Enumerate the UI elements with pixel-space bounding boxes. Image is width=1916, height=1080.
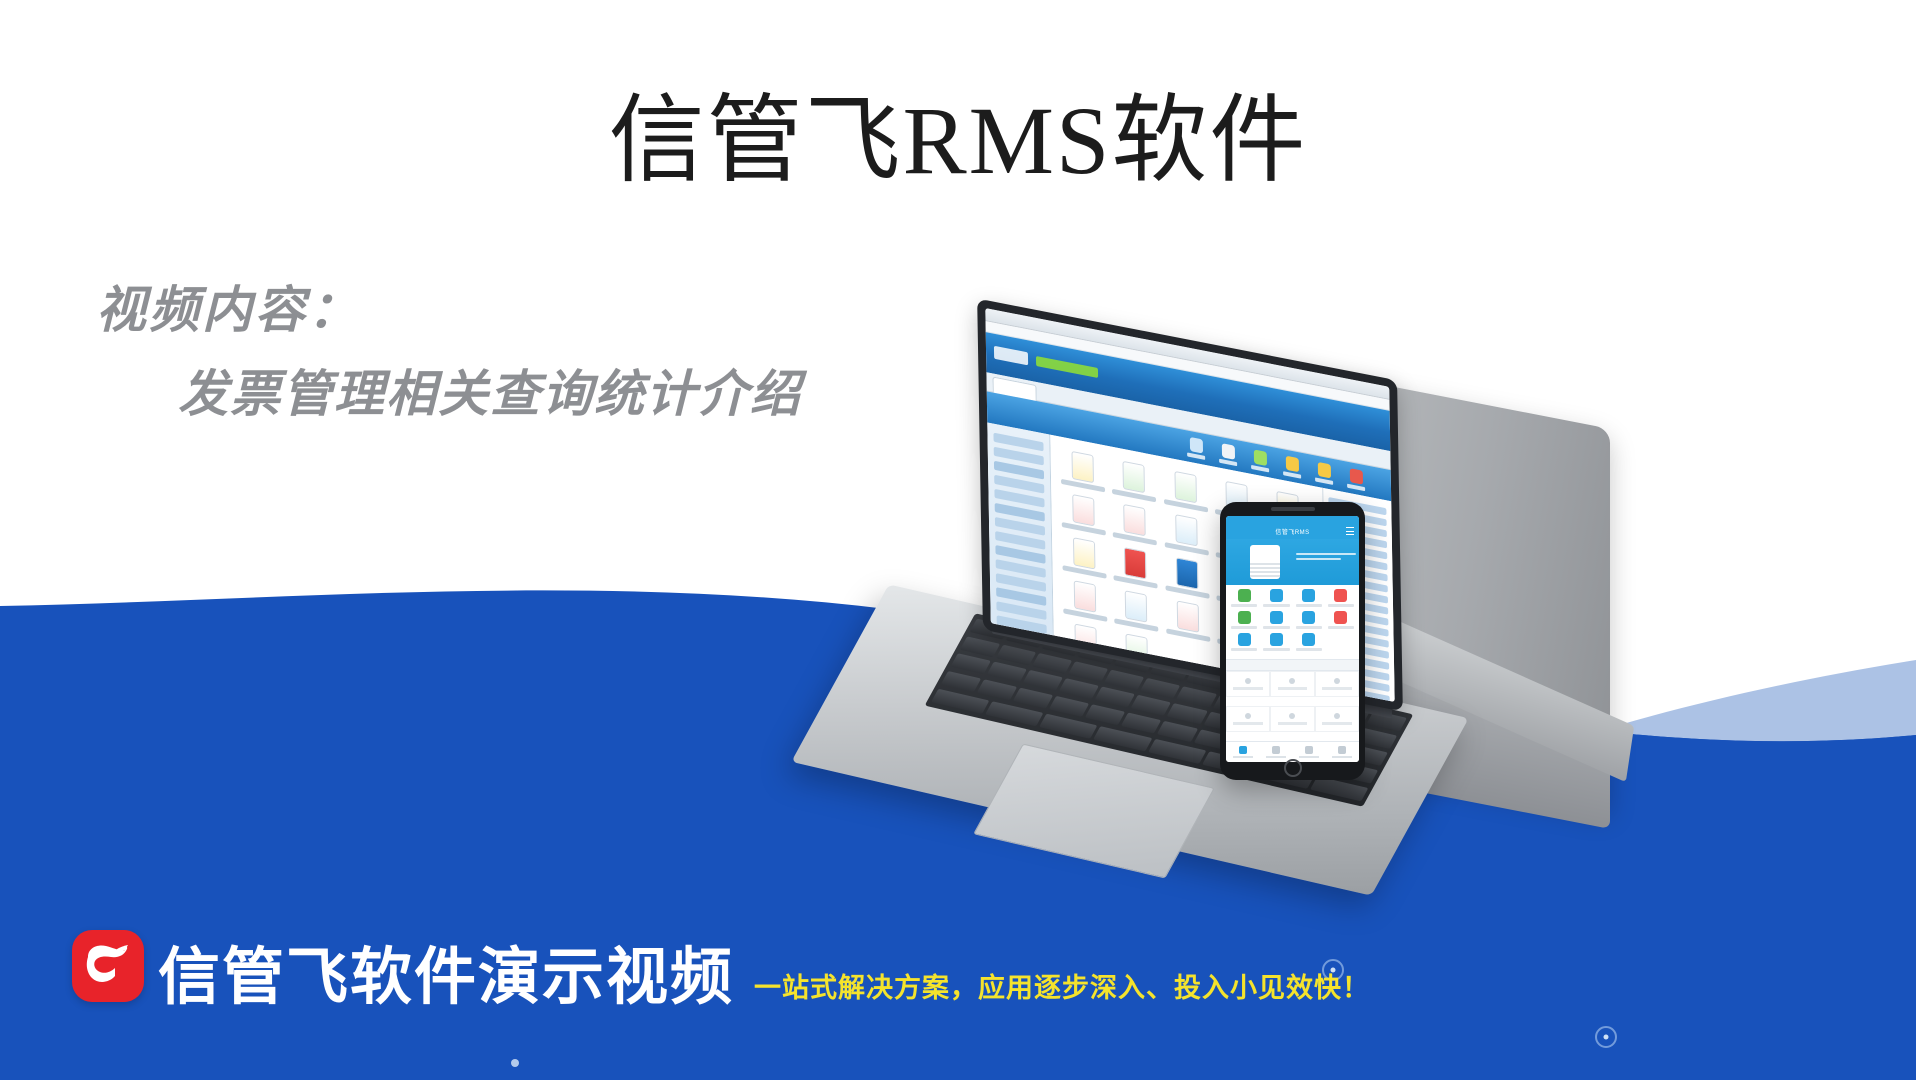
phone-stat-cell[interactable] <box>1226 671 1270 697</box>
subtitle-block: 视频内容： 发票管理相关查询统计介绍 <box>96 280 802 424</box>
key <box>1131 695 1171 716</box>
phone-grid-item[interactable] <box>1325 611 1357 629</box>
key <box>1104 670 1144 691</box>
key <box>1095 687 1135 708</box>
subtitle-content: 发票管理相关查询统计介绍 <box>178 364 802 424</box>
phone-stat-cell[interactable] <box>1226 706 1270 732</box>
document-icon[interactable] <box>1219 443 1237 469</box>
banner-tagline: 一站式解决方案，应用逐步深入、投入小见效快！ <box>754 975 1370 1002</box>
phone-tab-reports[interactable] <box>1293 742 1326 762</box>
phone-speaker <box>1271 507 1315 511</box>
key <box>1157 721 1197 742</box>
key <box>1085 704 1125 725</box>
exit-icon[interactable] <box>1347 468 1365 494</box>
user-icon[interactable] <box>1187 436 1205 462</box>
key <box>1068 661 1108 682</box>
phone-illustration-icon <box>1250 545 1280 579</box>
phone-hero-banner <box>1226 539 1359 585</box>
key <box>941 671 981 692</box>
phone-grid-item[interactable] <box>1228 611 1260 629</box>
grid-icon-item[interactable] <box>1164 555 1209 599</box>
subtitle-label: 视频内容： <box>96 280 802 340</box>
phone-screen: 信管飞RMS <box>1226 516 1359 762</box>
key <box>986 662 1026 683</box>
alert-icon[interactable] <box>1315 461 1333 487</box>
grid-icon-item[interactable] <box>1114 588 1159 632</box>
grid-icon-item[interactable] <box>1164 512 1209 556</box>
phone-grid-item[interactable] <box>1228 589 1260 607</box>
phone-grid-item[interactable] <box>1260 589 1292 607</box>
device-mockups: 信管飞RMS <box>880 380 1916 940</box>
phone-home-button[interactable] <box>1284 759 1302 777</box>
key <box>977 679 1017 700</box>
phone-stat-cell[interactable] <box>1315 706 1359 732</box>
phone-grid-item[interactable] <box>1293 633 1325 651</box>
app-banner-accent <box>1036 356 1098 378</box>
key <box>1121 713 1161 734</box>
grid-icon-item[interactable] <box>1062 578 1107 622</box>
phone-tab-home[interactable] <box>1226 742 1259 762</box>
key <box>950 654 990 675</box>
phone-shortcut-grid <box>1226 585 1359 659</box>
key <box>1059 679 1099 700</box>
key <box>1049 696 1089 717</box>
key <box>1176 686 1216 707</box>
phone-stat-cell[interactable] <box>1270 671 1314 697</box>
phone-grid-item[interactable] <box>1260 633 1292 651</box>
phone-grid-item[interactable] <box>1293 589 1325 607</box>
key <box>1013 688 1053 709</box>
phone-grid-item[interactable] <box>1293 611 1325 629</box>
grid-icon-item[interactable] <box>1112 459 1157 503</box>
phone-stats-table <box>1226 671 1359 741</box>
phone-app-header: 信管飞RMS <box>1226 523 1359 539</box>
banner-brand-text: 信管飞软件演示视频 <box>158 946 734 1008</box>
grid-icon-item[interactable] <box>1113 545 1158 589</box>
grid-icon-item[interactable] <box>1112 502 1157 546</box>
logo-glyph <box>84 943 132 989</box>
phone-stat-cell[interactable] <box>1315 671 1359 697</box>
phone-banner-text <box>1296 553 1356 563</box>
grid-icon-item[interactable] <box>1165 598 1210 642</box>
bottom-banner: 信管飞软件演示视频 一站式解决方案，应用逐步深入、投入小见效快！ <box>0 900 1916 1080</box>
phone-stat-cell[interactable] <box>1270 706 1314 732</box>
app-logo-icon <box>994 346 1028 366</box>
grid-icon-item[interactable] <box>1062 535 1107 579</box>
flying-bird-logo-icon <box>72 930 144 1002</box>
key <box>1140 678 1180 699</box>
grid-icon-item[interactable] <box>1060 449 1105 493</box>
key <box>960 636 1000 657</box>
grid-icon-item[interactable] <box>1061 492 1106 536</box>
page-title: 信管飞RMS软件 <box>0 88 1916 194</box>
key <box>1167 704 1207 725</box>
key <box>1032 653 1072 674</box>
lock-icon[interactable] <box>1283 455 1301 481</box>
smartphone-mockup: 信管飞RMS <box>1220 502 1365 780</box>
phone-grid-item[interactable] <box>1228 633 1260 651</box>
folder-icon[interactable] <box>1251 449 1269 475</box>
phone-app-title: 信管飞RMS <box>1275 527 1309 536</box>
grid-icon-item[interactable] <box>1163 469 1208 513</box>
key <box>996 645 1036 666</box>
slide-canvas: 信管飞RMS软件 视频内容： 发票管理相关查询统计介绍 <box>0 0 1916 1080</box>
phone-grid-item[interactable] <box>1325 589 1357 607</box>
phone-status-bar <box>1226 516 1359 523</box>
app-sidebar <box>987 422 1053 635</box>
key <box>1023 670 1063 691</box>
hamburger-menu-icon[interactable] <box>1346 527 1354 535</box>
phone-tab-profile[interactable] <box>1326 742 1359 762</box>
phone-grid-item[interactable] <box>1260 611 1292 629</box>
phone-section-header <box>1226 659 1359 671</box>
